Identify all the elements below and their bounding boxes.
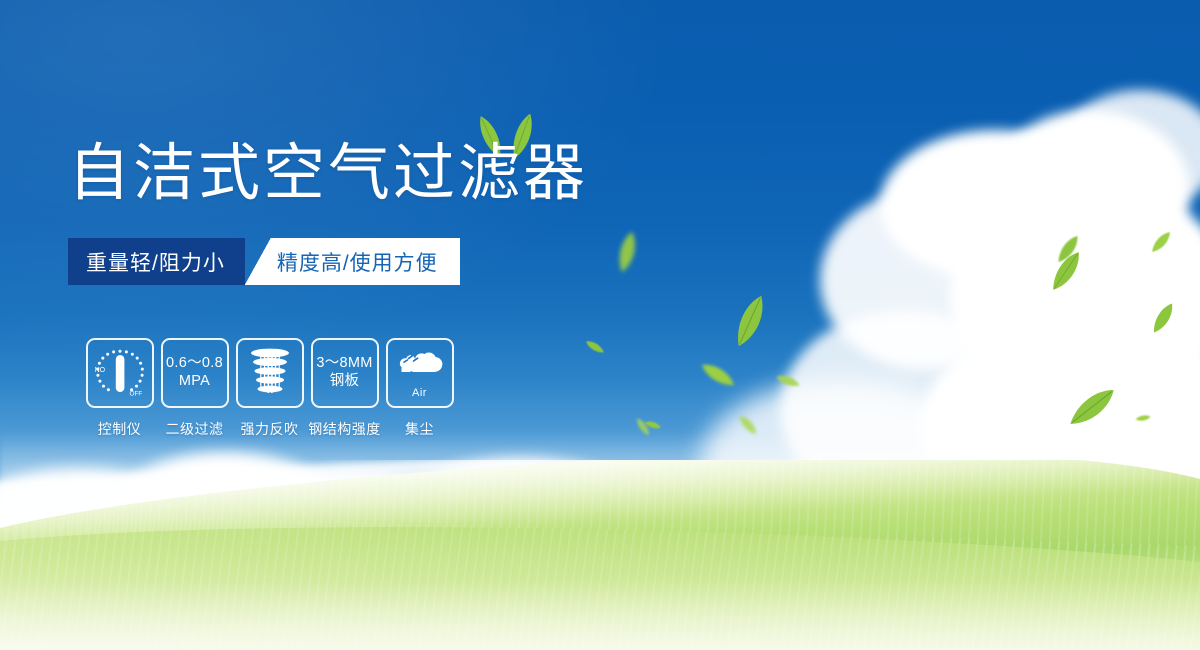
- tag-label: 精度高/使用方便: [277, 247, 438, 277]
- feature-label: 控制仪: [98, 419, 142, 439]
- feature-label: 集尘: [405, 419, 434, 439]
- feature-item-controller[interactable]: NO OFF 控制仪: [82, 338, 157, 439]
- tag-label: 重量轻/阻力小: [86, 247, 225, 277]
- feature-label: 强力反吹: [241, 419, 299, 439]
- filter-stack-icon: [236, 338, 304, 408]
- feature-item-strong-blowback[interactable]: 强力反吹: [232, 338, 307, 439]
- pressure-value-line2: MPA: [179, 373, 210, 391]
- feature-item-steel-strength[interactable]: 3～8MM 钢板 钢结构强度: [307, 338, 382, 439]
- tag-lightweight-lowresistance: 重量轻/阻力小: [68, 238, 245, 285]
- feature-item-dust-collection[interactable]: Air 集尘: [382, 338, 457, 439]
- feature-tagbar: 重量轻/阻力小 精度高/使用方便: [68, 238, 460, 285]
- steel-plate-text-icon: 3～8MM 钢板: [311, 338, 379, 408]
- feature-label: 钢结构强度: [308, 419, 381, 439]
- feature-icon-row: NO OFF 控制仪 0.6～0.8 MPA 二级过滤: [82, 338, 457, 439]
- svg-text:NO: NO: [94, 367, 105, 374]
- tag-precision-easyuse: 精度高/使用方便: [271, 238, 460, 285]
- tag-divider-slant: [245, 238, 271, 285]
- pressure-value-line1: 0.6～0.8: [166, 355, 223, 373]
- steel-thickness-line2: 钢板: [330, 373, 360, 391]
- feature-item-two-stage-filter[interactable]: 0.6～0.8 MPA 二级过滤: [157, 338, 232, 439]
- page-title: 自洁式空气过滤器: [68, 143, 588, 205]
- svg-text:OFF: OFF: [129, 391, 142, 398]
- air-label: Air: [412, 387, 427, 400]
- banner-hero: 自洁式空气过滤器 重量轻/阻力小 精度高/使用方便: [0, 0, 1200, 650]
- cloud-air-icon: Air: [386, 338, 454, 408]
- steel-thickness-line1: 3～8MM: [316, 355, 372, 373]
- feature-label: 二级过滤: [166, 419, 224, 439]
- pressure-text-icon: 0.6～0.8 MPA: [161, 338, 229, 408]
- gauge-dial-icon: NO OFF: [86, 338, 154, 408]
